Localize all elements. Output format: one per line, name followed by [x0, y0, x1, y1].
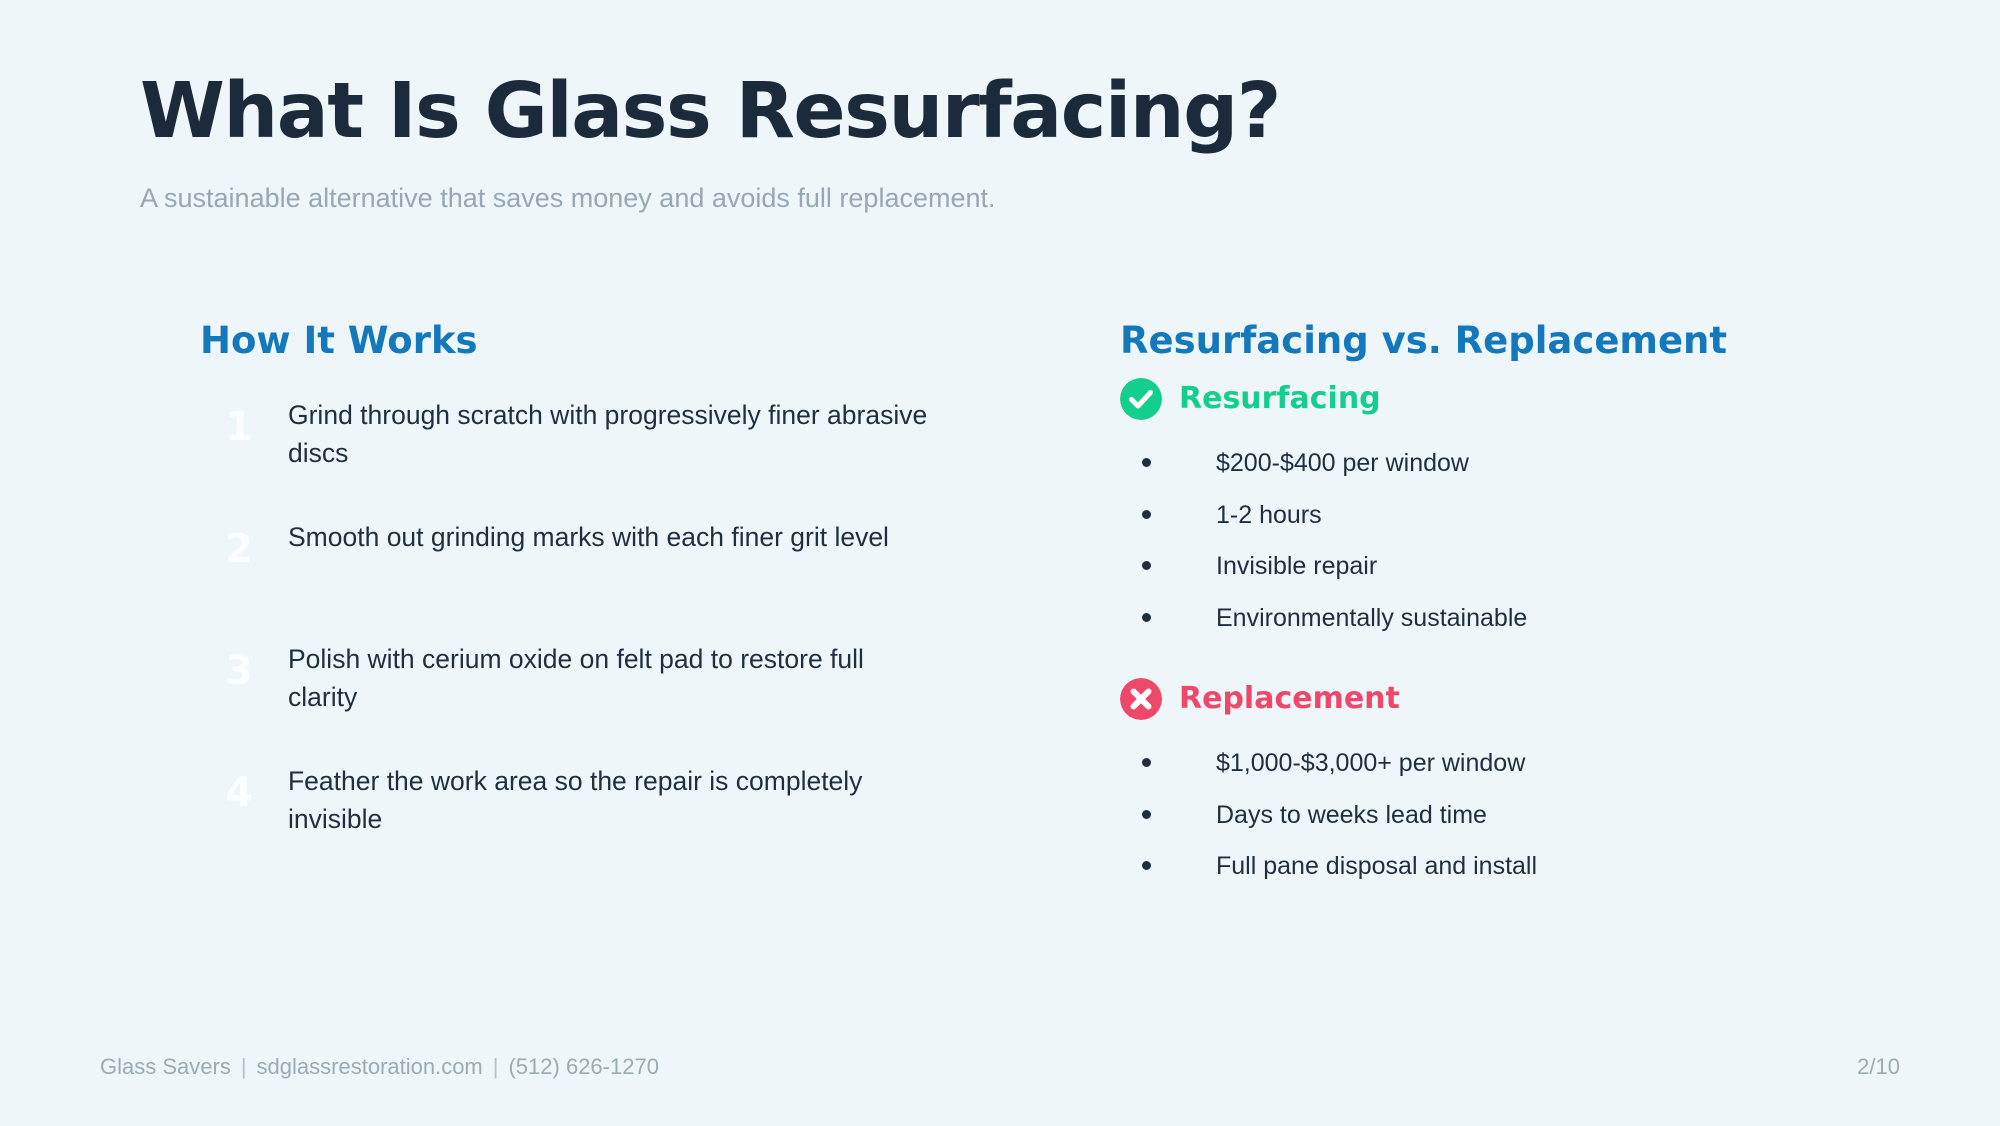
comparison-column: Resurfacing vs. Replacement Resurfacing … — [1120, 320, 1820, 900]
how-it-works-heading: How It Works — [200, 320, 960, 361]
list-item: 1 Grind through scratch with progressive… — [200, 397, 960, 479]
list-item-text: 1-2 hours — [1216, 501, 1322, 529]
list-item: 4 Feather the work area so the repair is… — [200, 763, 960, 845]
list-item: 3 Polish with cerium oxide on felt pad t… — [200, 641, 960, 723]
resurfacing-label: Resurfacing — [1179, 384, 1381, 414]
footer-company: Glass Savers — [100, 1054, 231, 1079]
list-item: Full pane disposal and install — [1120, 848, 1820, 886]
x-circle-icon — [1120, 678, 1162, 720]
step-number: 1 — [214, 403, 264, 451]
slide-body: How It Works 1 Grind through scratch wit… — [0, 320, 2000, 960]
footer-phone[interactable]: (512) 626-1270 — [508, 1054, 658, 1079]
footer-separator: | — [231, 1054, 257, 1079]
replacement-label: Replacement — [1179, 684, 1400, 714]
list-item: 1-2 hours — [1120, 497, 1820, 535]
list-item: Environmentally sustainable — [1120, 600, 1820, 638]
step-text: Polish with cerium oxide on felt pad to … — [288, 641, 928, 716]
list-item-text: $1,000-$3,000+ per window — [1216, 749, 1525, 777]
replacement-header: Replacement — [1120, 675, 1820, 723]
step-number: 4 — [214, 769, 264, 817]
list-item-text: Invisible repair — [1216, 552, 1377, 580]
slide: What Is Glass Resurfacing? A sustainable… — [0, 0, 2000, 1126]
step-text: Grind through scratch with progressively… — [288, 397, 928, 472]
list-item: $1,000-$3,000+ per window — [1120, 745, 1820, 783]
list-item: $200-$400 per window — [1120, 445, 1820, 483]
bullet-icon — [1142, 810, 1151, 819]
step-number: 2 — [214, 525, 264, 573]
slide-footer: Glass Savers|sdglassrestoration.com|(512… — [0, 1006, 2000, 1126]
resurfacing-header: Resurfacing — [1120, 375, 1820, 423]
how-it-works-column: How It Works 1 Grind through scratch wit… — [200, 320, 960, 885]
resurfacing-block: Resurfacing $200-$400 per window 1-2 hou… — [1120, 375, 1820, 637]
step-text: Feather the work area so the repair is c… — [288, 763, 928, 838]
bullet-icon — [1142, 458, 1151, 467]
replacement-block: Replacement $1,000-$3,000+ per window Da… — [1120, 675, 1820, 886]
bullet-icon — [1142, 758, 1151, 767]
bullet-icon — [1142, 510, 1151, 519]
replacement-list: $1,000-$3,000+ per window Days to weeks … — [1120, 723, 1820, 886]
steps-list: 1 Grind through scratch with progressive… — [200, 397, 960, 845]
list-item: Invisible repair — [1120, 548, 1820, 586]
list-item-text: Environmentally sustainable — [1216, 604, 1527, 632]
bullet-icon — [1142, 613, 1151, 622]
list-item-text: Days to weeks lead time — [1216, 801, 1487, 829]
bullet-icon — [1142, 861, 1151, 870]
resurfacing-list: $200-$400 per window 1-2 hours Invisible… — [1120, 423, 1820, 637]
footer-contact: Glass Savers|sdglassrestoration.com|(512… — [100, 1054, 659, 1080]
page-subtitle: A sustainable alternative that saves mon… — [140, 153, 1840, 216]
bullet-icon — [1142, 561, 1151, 570]
list-item-text: Full pane disposal and install — [1216, 852, 1537, 880]
check-circle-icon — [1120, 378, 1162, 420]
footer-separator: | — [483, 1054, 509, 1079]
step-number: 3 — [214, 647, 264, 695]
footer-website[interactable]: sdglassrestoration.com — [257, 1054, 483, 1079]
step-text: Smooth out grinding marks with each fine… — [288, 519, 928, 557]
list-item-text: $200-$400 per window — [1216, 449, 1469, 477]
comparison-heading: Resurfacing vs. Replacement — [1120, 320, 1820, 361]
page-title: What Is Glass Resurfacing? — [140, 72, 1840, 153]
slide-header: What Is Glass Resurfacing? A sustainable… — [140, 72, 1840, 216]
list-item: Days to weeks lead time — [1120, 797, 1820, 835]
list-item: 2 Smooth out grinding marks with each fi… — [200, 519, 960, 601]
page-number: 2/10 — [1857, 1054, 1900, 1080]
